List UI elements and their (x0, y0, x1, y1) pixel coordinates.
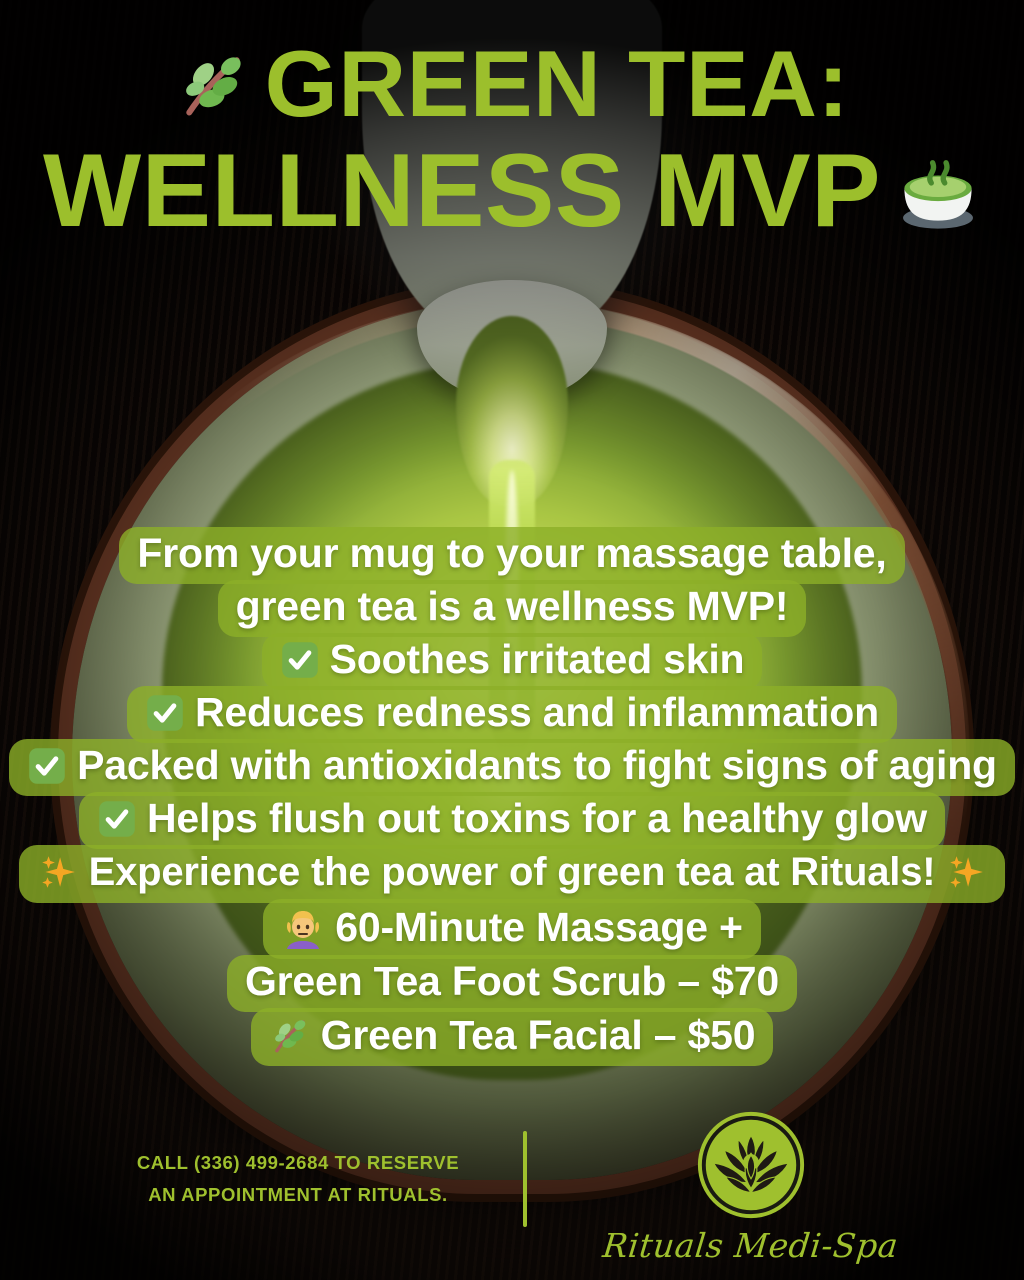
message-block: From your mug to your massage table, gre… (0, 527, 1024, 1066)
message-line: Helps flush out toxins for a healthy glo… (0, 792, 1024, 849)
line-text: green tea is a wellness MVP! (236, 586, 789, 627)
herb-icon (175, 46, 251, 122)
poster-footer: CALL (336) 499-2684 TO RESERVE AN APPOIN… (0, 1104, 1024, 1254)
highlight-pill: Packed with antioxidants to fight signs … (9, 739, 1015, 796)
massage-icon (281, 905, 325, 949)
vertical-divider (523, 1131, 527, 1227)
message-line: 60-Minute Massage + (0, 899, 1024, 959)
title-line-2-row: WELLNESS MVP (0, 138, 1024, 244)
seedling-icon (269, 1014, 311, 1056)
line-text: 60-Minute Massage + (335, 907, 742, 948)
highlight-pill: From your mug to your massage table, (119, 527, 904, 584)
brand-lockup: Rituals Medi-Spa (571, 1106, 931, 1265)
message-line: Green Tea Foot Scrub – $70 (0, 955, 1024, 1012)
check-mark-icon (145, 693, 185, 733)
message-line: Experience the power of green tea at Rit… (0, 845, 1024, 903)
line-text: Green Tea Foot Scrub – $70 (245, 961, 779, 1002)
line-text: Green Tea Facial – $50 (321, 1015, 756, 1056)
highlight-pill: green tea is a wellness MVP! (218, 580, 807, 637)
line-text: Soothes irritated skin (330, 639, 745, 680)
poster-title: GREEN TEA: WELLNESS MVP (0, 36, 1024, 244)
sparkles-icon (945, 851, 987, 893)
title-line-1-text: GREEN TEA: (265, 36, 850, 132)
message-line: Green Tea Facial – $50 (0, 1008, 1024, 1066)
contact-line-2: AN APPOINTMENT AT RITUALS. (93, 1179, 503, 1211)
highlight-pill: Soothes irritated skin (262, 633, 763, 690)
highlight-pill: Reduces redness and inflammation (127, 686, 897, 743)
title-line-1-row: GREEN TEA: (0, 36, 1024, 132)
highlight-pill: 60-Minute Massage + (263, 899, 760, 959)
brand-wordmark: Rituals Medi-Spa (601, 1226, 900, 1265)
message-line: Soothes irritated skin (0, 633, 1024, 690)
highlight-pill: Green Tea Foot Scrub – $70 (227, 955, 797, 1012)
message-line: From your mug to your massage table, (0, 527, 1024, 584)
check-mark-icon (27, 746, 67, 786)
promo-poster: GREEN TEA: WELLNESS MVP From your mug to… (0, 0, 1024, 1280)
check-mark-icon (97, 799, 137, 839)
sparkles-icon (37, 851, 79, 893)
message-line: Reduces redness and inflammation (0, 686, 1024, 743)
highlight-pill: Green Tea Facial – $50 (251, 1008, 774, 1066)
line-text: Packed with antioxidants to fight signs … (77, 745, 997, 786)
line-text: Reduces redness and inflammation (195, 692, 879, 733)
contact-info: CALL (336) 499-2684 TO RESERVE AN APPOIN… (93, 1147, 523, 1212)
highlight-pill: Helps flush out toxins for a healthy glo… (79, 792, 945, 849)
line-text: Helps flush out toxins for a healthy glo… (147, 798, 927, 839)
line-text: Experience the power of green tea at Rit… (89, 852, 936, 892)
message-line: Packed with antioxidants to fight signs … (0, 739, 1024, 796)
title-line-2-text: WELLNESS MVP (43, 138, 881, 244)
check-mark-icon (280, 640, 320, 680)
highlight-pill: Experience the power of green tea at Rit… (19, 845, 1006, 903)
line-text: From your mug to your massage table, (137, 533, 886, 574)
message-line: green tea is a wellness MVP! (0, 580, 1024, 637)
teacup-icon (895, 148, 981, 234)
lotus-logo-icon (692, 1106, 810, 1224)
contact-line-1: CALL (336) 499-2684 TO RESERVE (93, 1147, 503, 1179)
